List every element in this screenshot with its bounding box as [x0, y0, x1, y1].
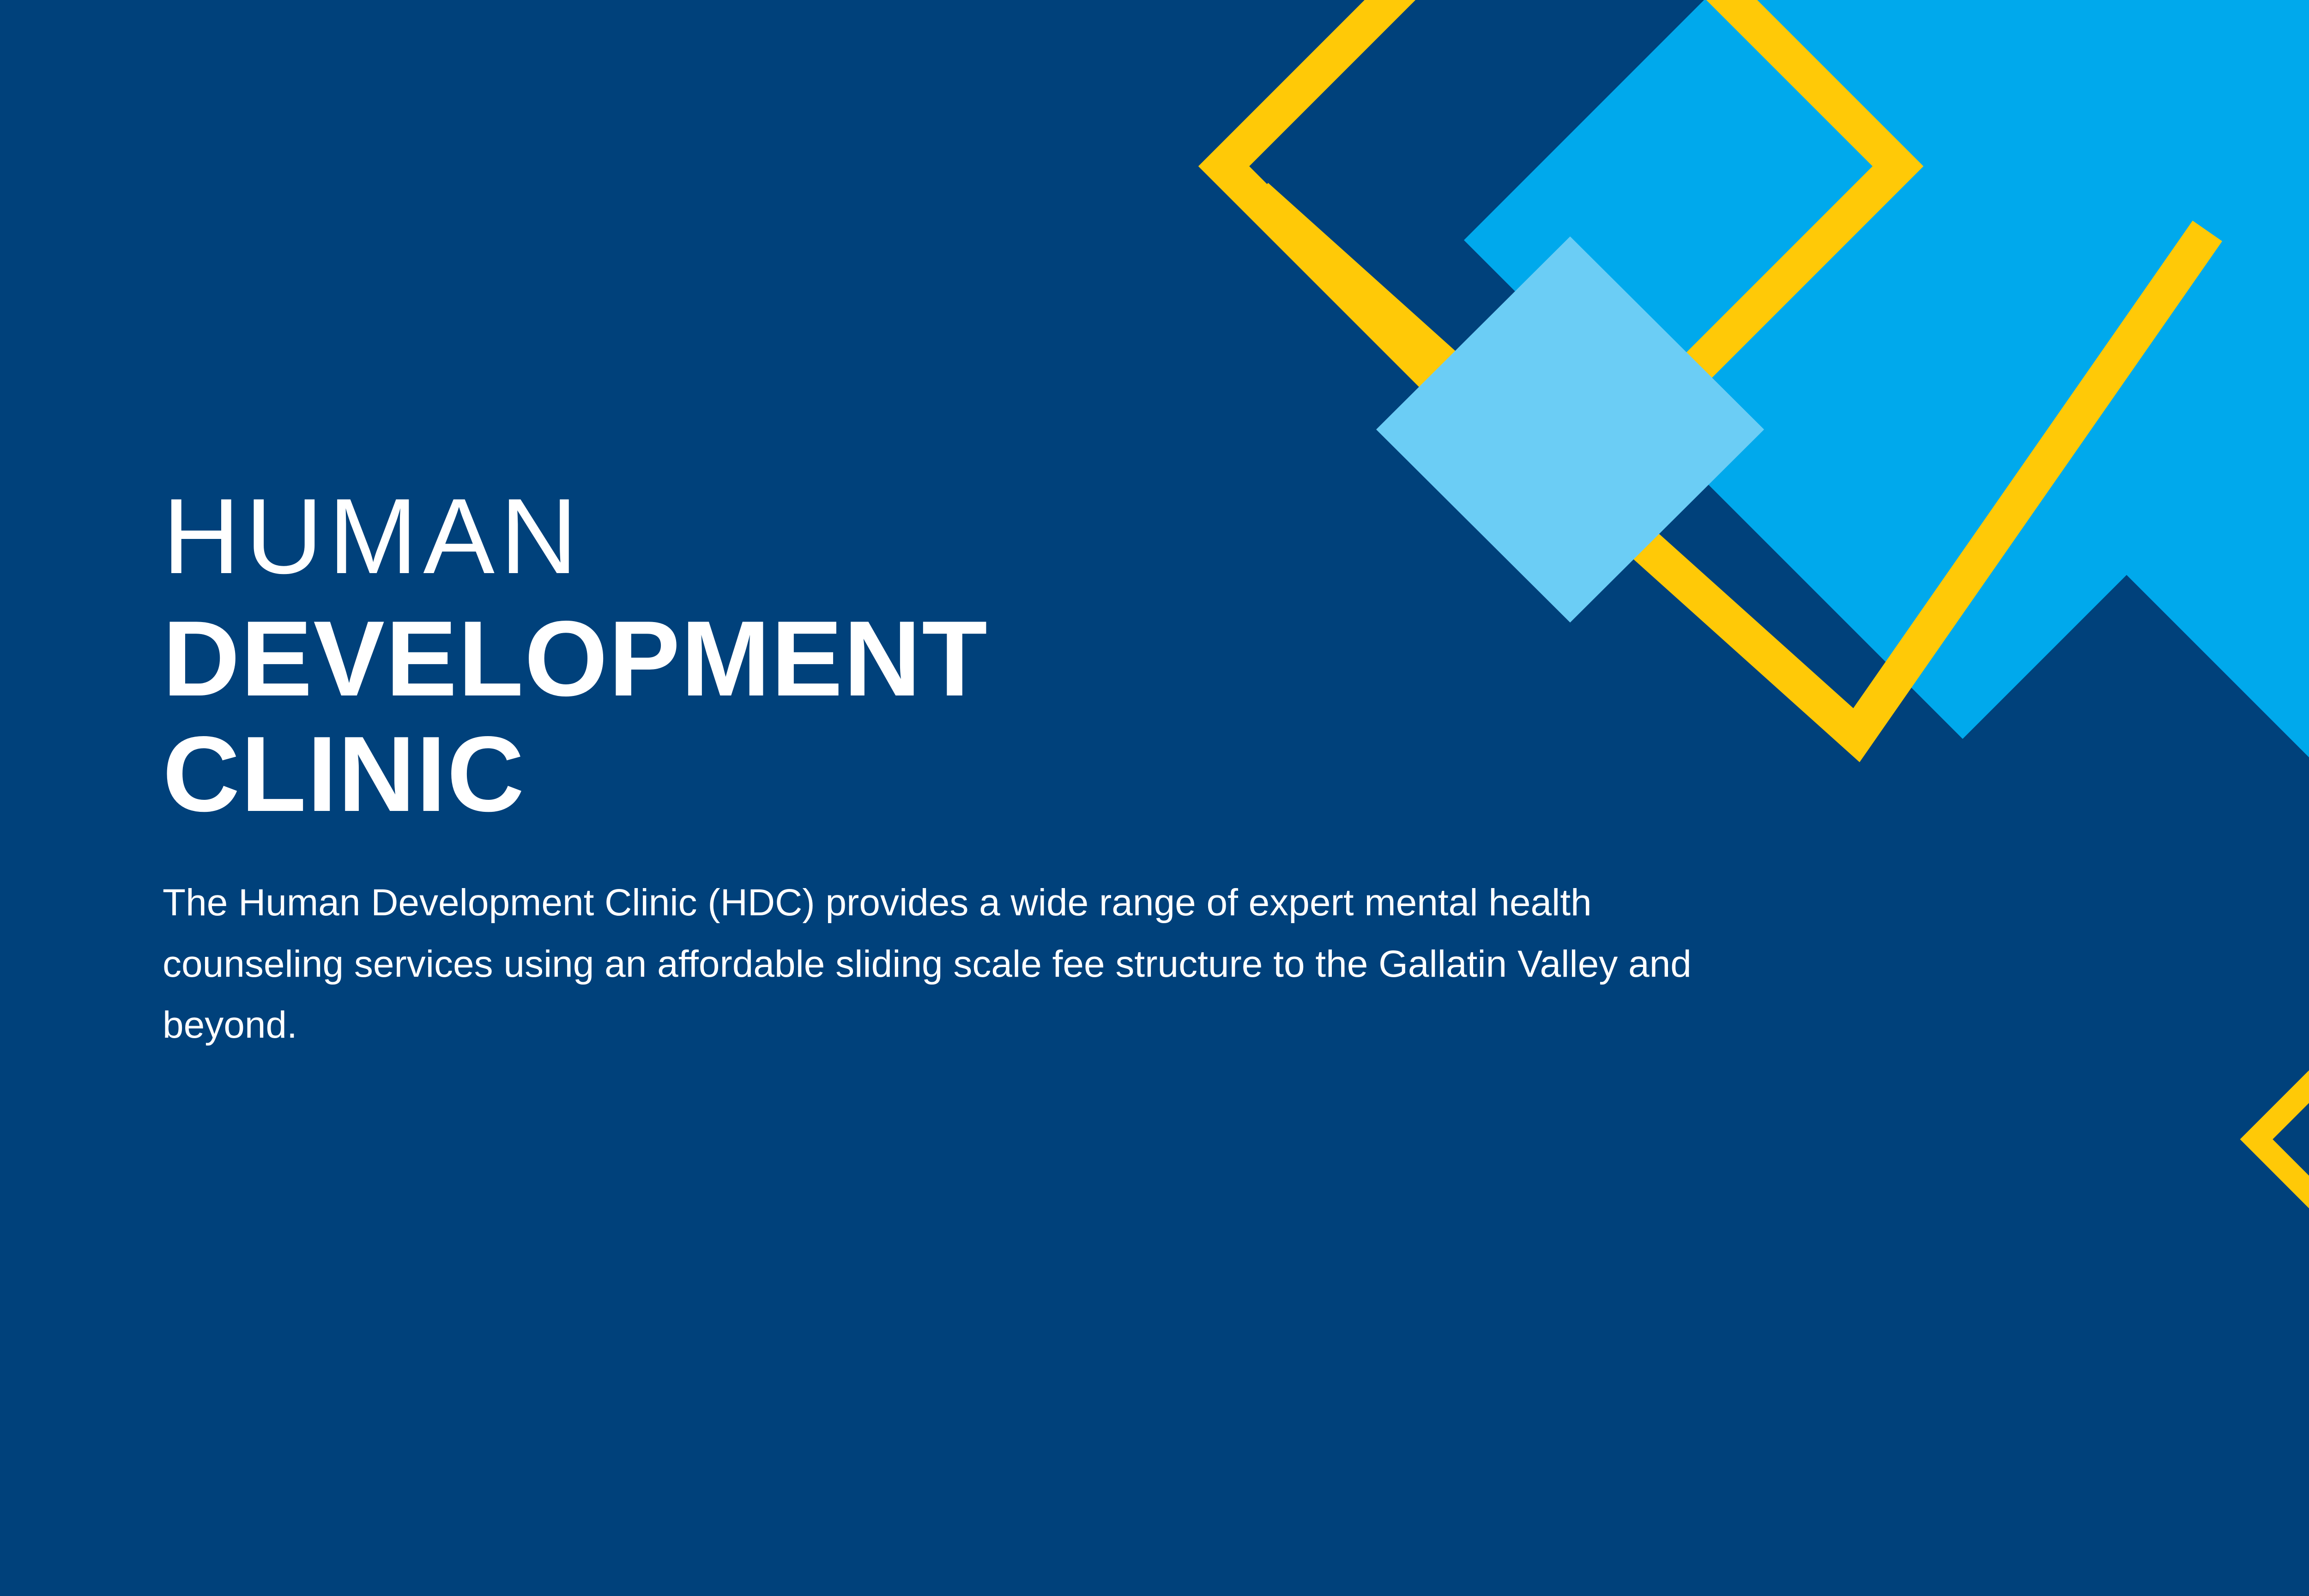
- banner-text-block: HUMAN DEVELOPMENT CLINIC The Human Devel…: [163, 480, 1779, 1056]
- hero-banner: HUMAN DEVELOPMENT CLINIC The Human Devel…: [0, 0, 2309, 1596]
- page-title-line-2: DEVELOPMENT: [163, 601, 1779, 717]
- banner-description: The Human Development Clinic (HDC) provi…: [163, 872, 1747, 1056]
- page-title-line-1: HUMAN: [163, 480, 1779, 593]
- page-title-line-3: CLINIC: [163, 717, 1779, 833]
